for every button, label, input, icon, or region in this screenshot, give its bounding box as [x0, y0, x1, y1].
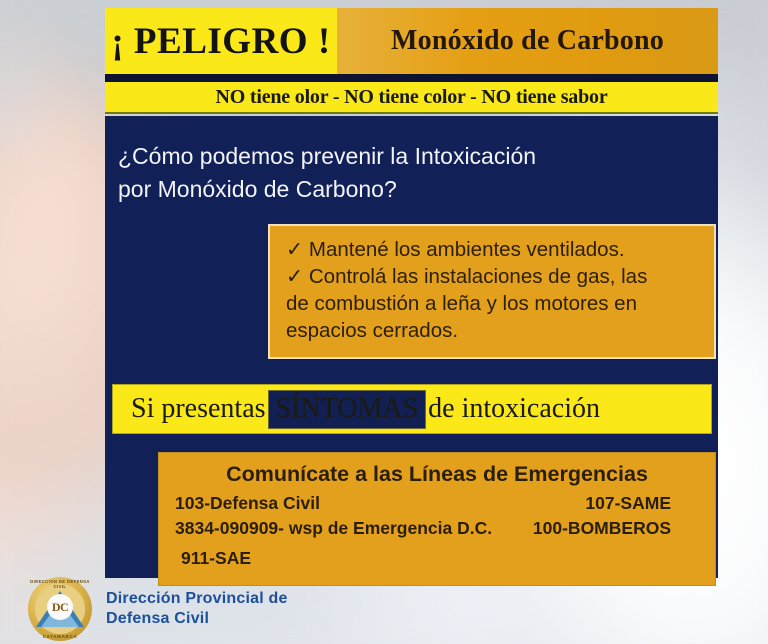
subtitle-text: NO tiene olor - NO tiene color - NO tien…: [215, 86, 607, 109]
subtitle-banner: NO tiene olor - NO tiene color - NO tien…: [105, 82, 718, 114]
question-line-2: por Monóxido de Carbono?: [118, 173, 678, 206]
footer: DIRECCION DE DEFENSA CIVIL DC CATAMARCA …: [28, 574, 448, 644]
logo-top-caption: DIRECCION DE DEFENSA CIVIL: [28, 579, 92, 589]
emergency-row: 103-Defensa Civil 107-SAME: [171, 493, 703, 514]
emergency-contact-left: 3834-090909- wsp de Emergencia D.C.: [171, 518, 492, 539]
danger-banner: ¡ PELIGRO !: [105, 8, 337, 74]
poster-body: ¿Cómo podemos prevenir la Intoxicación p…: [105, 116, 718, 578]
emergency-contact-right: 107-SAME: [585, 493, 703, 514]
emergency-row: 3834-090909- wsp de Emergencia D.C. 100-…: [171, 518, 703, 539]
logo-bottom-caption: CATAMARCA: [28, 634, 92, 639]
poster-title: Monóxido de Carbono: [391, 25, 664, 57]
emergency-contact-left: 103-Defensa Civil: [171, 493, 320, 514]
prevention-tips-box: ✓ Mantené los ambientes ventilados. ✓ Co…: [268, 224, 716, 359]
symptoms-prefix: Si presentas: [131, 393, 266, 425]
tip-item-4: espacios cerrados.: [286, 318, 700, 345]
poster-panel: ¡ PELIGRO ! Monóxido de Carbono NO tiene…: [105, 8, 718, 578]
tip-item-3: de combustión a leña y los motores en: [286, 291, 700, 318]
symptoms-highlight: SÍNTOMAS: [268, 390, 427, 429]
header-divider-rule: [105, 74, 718, 82]
organization-line-1: Dirección Provincial de: [106, 589, 288, 609]
danger-label: ¡ PELIGRO !: [111, 20, 330, 63]
defensa-civil-logo-icon: DIRECCION DE DEFENSA CIVIL DC CATAMARCA: [28, 577, 92, 641]
logo-monogram-disc: DC: [47, 594, 73, 620]
symptoms-suffix: de intoxicación: [428, 393, 600, 425]
tip-item-2: ✓ Controlá las instalaciones de gas, las: [286, 264, 700, 291]
logo-monogram: DC: [52, 600, 68, 615]
emergency-heading: Comunícate a las Líneas de Emergencias: [171, 462, 703, 487]
emergency-row-extra: 911-SAE: [171, 548, 703, 569]
prevention-question: ¿Cómo podemos prevenir la Intoxicación p…: [118, 140, 678, 205]
organization-line-2: Defensa Civil: [106, 609, 288, 629]
emergency-contact-right: 100-BOMBEROS: [533, 518, 703, 539]
question-line-1: ¿Cómo podemos prevenir la Intoxicación: [118, 140, 678, 173]
symptoms-banner: Si presentas SÍNTOMAS de intoxicación: [112, 384, 712, 434]
poster-header: ¡ PELIGRO ! Monóxido de Carbono: [105, 8, 718, 74]
emergency-contact-extra: 911-SAE: [181, 548, 251, 568]
tip-item-1: ✓ Mantené los ambientes ventilados.: [286, 237, 700, 264]
organization-name: Dirección Provincial de Defensa Civil: [106, 589, 288, 630]
poster-title-banner: Monóxido de Carbono: [337, 8, 718, 74]
emergency-contacts-box: Comunícate a las Líneas de Emergencias 1…: [158, 452, 716, 586]
